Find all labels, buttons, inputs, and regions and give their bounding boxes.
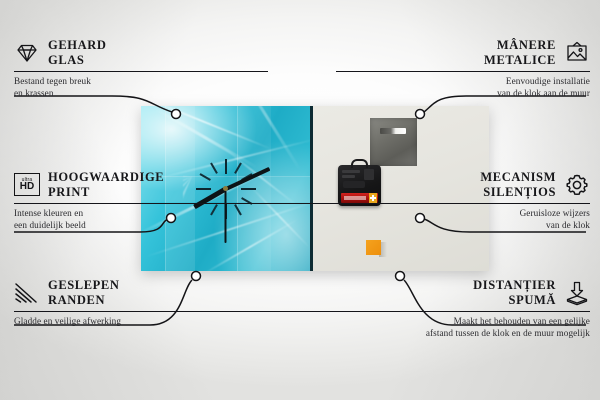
feature-title-line2: GLAS [48, 53, 106, 68]
infographic-canvas: GEHARD GLAS Bestand tegen breuk en krass… [0, 0, 600, 400]
mechanism-hanging-loop [351, 159, 368, 168]
feature-title-line1: MÂNERE [484, 38, 556, 53]
feature-high-quality-print: ultra HD HOOGWAARDIGE PRINT Intense kleu… [14, 170, 344, 231]
feature-title: GEHARD GLAS [48, 38, 106, 68]
feature-title: MÂNERE METALICE [484, 38, 556, 68]
metal-hanger-plate [370, 118, 417, 166]
feather-streak [152, 106, 257, 169]
feature-head: MÂNERE METALICE [336, 38, 590, 68]
feature-title: MECANISM SILENȚIOS [480, 170, 556, 200]
feature-description: Geruisloze wijzers van de klok [320, 207, 590, 231]
feature-head: ultra HD HOOGWAARDIGE PRINT [14, 170, 344, 200]
feature-title: DISTANȚIER SPUMĂ [473, 278, 556, 308]
feature-title-line2: RANDEN [48, 293, 120, 308]
feature-desc-line1: Maakt het behouden van een gelijke [230, 315, 590, 327]
feature-tempered-glass: GEHARD GLAS Bestand tegen breuk en krass… [14, 38, 268, 99]
feature-rule [320, 203, 590, 204]
gear-icon [564, 172, 590, 198]
feature-rule [14, 203, 344, 204]
feature-desc-line1: Eenvoudige installatie [336, 75, 590, 87]
feature-title-line1: GEHARD [48, 38, 106, 53]
ultra-hd-icon-large-text: HD [20, 182, 34, 192]
feature-title-line2: SPUMĂ [473, 293, 556, 308]
feature-head: GEHARD GLAS [14, 38, 268, 68]
diamond-icon [14, 40, 40, 66]
feature-rule [336, 71, 590, 72]
feather-streak [141, 106, 272, 150]
feature-description: Eenvoudige installatie van de klok aan d… [336, 75, 590, 99]
ultra-hd-icon: ultra HD [14, 173, 40, 196]
feature-title-line1: HOOGWAARDIGE [48, 170, 164, 185]
feature-desc-line1: Geruisloze wijzers [320, 207, 590, 219]
feature-title-line1: GESLEPEN [48, 278, 120, 293]
feature-description: Maakt het behouden van een gelijke afsta… [230, 315, 590, 339]
feature-desc-line2: van de klok [320, 219, 590, 231]
feature-description: Bestand tegen breuk en krassen [14, 75, 268, 99]
picture-frame-icon [564, 40, 590, 66]
feature-title-line2: METALICE [484, 53, 556, 68]
feature-head: DISTANȚIER SPUMĂ [230, 278, 590, 308]
feature-foam-spacer: DISTANȚIER SPUMĂ Maakt het behouden van … [230, 278, 590, 339]
feature-desc-line1: Intense kleuren en [14, 207, 344, 219]
feature-desc-line2: afstand tussen de klok en de muur mogeli… [230, 327, 590, 339]
feature-title: HOOGWAARDIGE PRINT [48, 170, 164, 200]
feature-title-line1: MECANISM [480, 170, 556, 185]
hanger-slot [380, 128, 406, 134]
diagonal-lines-icon [14, 280, 40, 306]
feature-silent-mechanism: MECANISM SILENȚIOS Geruisloze wijzers va… [320, 170, 590, 231]
foam-spacer [366, 240, 381, 255]
press-layers-icon [564, 280, 590, 306]
feature-desc-line2: en krassen [14, 87, 268, 99]
feature-description: Intense kleuren en een duidelijk beeld [14, 207, 344, 231]
feature-title-line2: SILENȚIOS [480, 185, 556, 200]
feature-title: GESLEPEN RANDEN [48, 278, 120, 308]
feather-streak [230, 106, 301, 171]
feature-desc-line2: van de klok aan de muur [336, 87, 590, 99]
feature-metal-handles: MÂNERE METALICE Eenvoudige installatie v… [336, 38, 590, 99]
feature-title-line1: DISTANȚIER [473, 278, 556, 293]
feature-desc-line2: een duidelijk beeld [14, 219, 344, 231]
feature-rule [230, 311, 590, 312]
feature-desc-line1: Bestand tegen breuk [14, 75, 268, 87]
feature-title-line2: PRINT [48, 185, 164, 200]
feature-rule [14, 71, 268, 72]
feature-head: MECANISM SILENȚIOS [320, 170, 590, 200]
